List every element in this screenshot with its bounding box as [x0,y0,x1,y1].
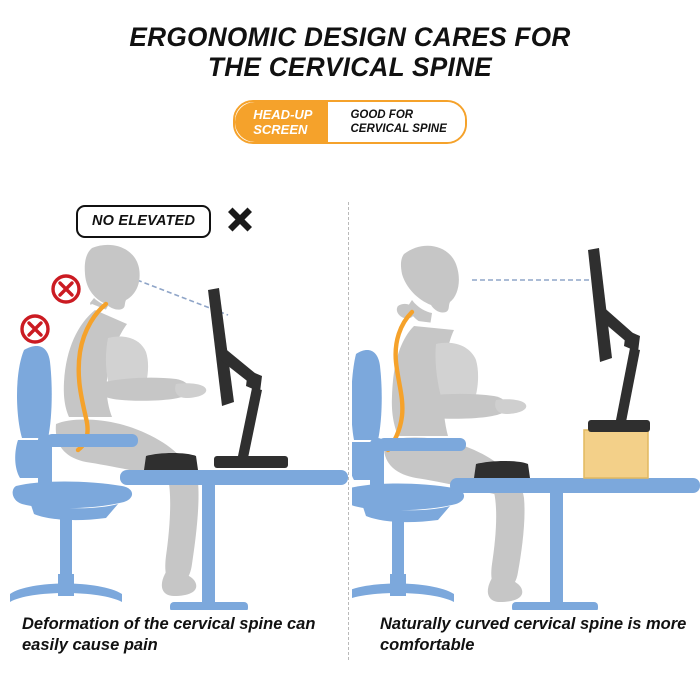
chair-arm-post [38,434,52,488]
feature-badge-left-line-2: SCREEN [253,122,312,137]
hand-shape [175,383,206,398]
desk-foot [512,602,598,610]
chair-armrest [378,438,466,451]
keyboard [474,461,530,478]
desk [120,470,348,610]
page-title: ERGONOMIC DESIGN CARES FOR THE CERVICAL … [0,22,700,82]
chair-column [392,520,404,576]
infographic-page: ERGONOMIC DESIGN CARES FOR THE CERVICAL … [0,0,700,700]
monitor-base [588,420,650,432]
desk-top [120,470,348,485]
panel-divider [348,202,349,660]
caption-good-posture: Naturally curved cervical spine is more … [380,614,700,656]
foot-shape [162,572,196,596]
chair-base-hub [58,574,74,596]
comparison-panels: NO ELEVATED [0,190,700,670]
page-title-line-1: ERGONOMIC DESIGN CARES FOR [11,22,690,52]
chair-backrest [17,346,52,438]
x-circle-icon [53,276,79,302]
desk-leg [550,493,563,610]
monitor-arm-lower [238,388,262,458]
feature-badge: HEAD-UP SCREEN GOOD FOR CERVICAL SPINE [0,100,700,144]
panel-no-elevated: NO ELEVATED [0,190,348,670]
monitor-riser-block [584,430,648,478]
monitor-arm-lower [616,348,640,422]
chair-armrest [46,434,138,447]
feature-badge-right: GOOD FOR CERVICAL SPINE [328,102,464,142]
chair-backrest [352,350,382,440]
feature-badge-left: HEAD-UP SCREEN [235,102,328,142]
feature-badge-right-line-2: CERVICAL SPINE [350,122,446,136]
feature-badge-right-line-1: GOOD FOR [350,108,446,122]
caption-bad-posture: Deformation of the cervical spine can ea… [22,614,342,656]
monitor-screen [208,288,234,406]
no-elevated-label: NO ELEVATED [76,205,211,238]
feature-badge-left-line-1: HEAD-UP [253,107,312,122]
chair-arm-post [370,438,384,490]
chair-base-hub [390,574,406,596]
forearm-shape [404,394,507,419]
chair-seat [13,482,132,509]
illustration-bad-posture [0,242,348,610]
monitor-base [214,456,288,468]
page-title-line-2: THE CERVICAL SPINE [11,52,690,82]
desk [450,478,700,610]
desk-top [450,478,700,493]
foot-shape [488,578,522,602]
feature-badge-pill: HEAD-UP SCREEN GOOD FOR CERVICAL SPINE [233,100,467,144]
desk-leg [202,485,215,610]
desk-foot [170,602,248,610]
x-circle-icon [22,316,48,342]
person-figure [384,246,526,602]
panel-with-elevated: WITH ELEVATED [352,190,700,670]
chair-column [60,518,72,576]
x-mark-icon [223,204,257,238]
keyboard [144,453,198,470]
illustration-good-posture [352,242,700,610]
hand-shape [495,399,526,414]
head-shape [401,246,459,313]
panel-left-label-row: NO ELEVATED [76,204,257,238]
